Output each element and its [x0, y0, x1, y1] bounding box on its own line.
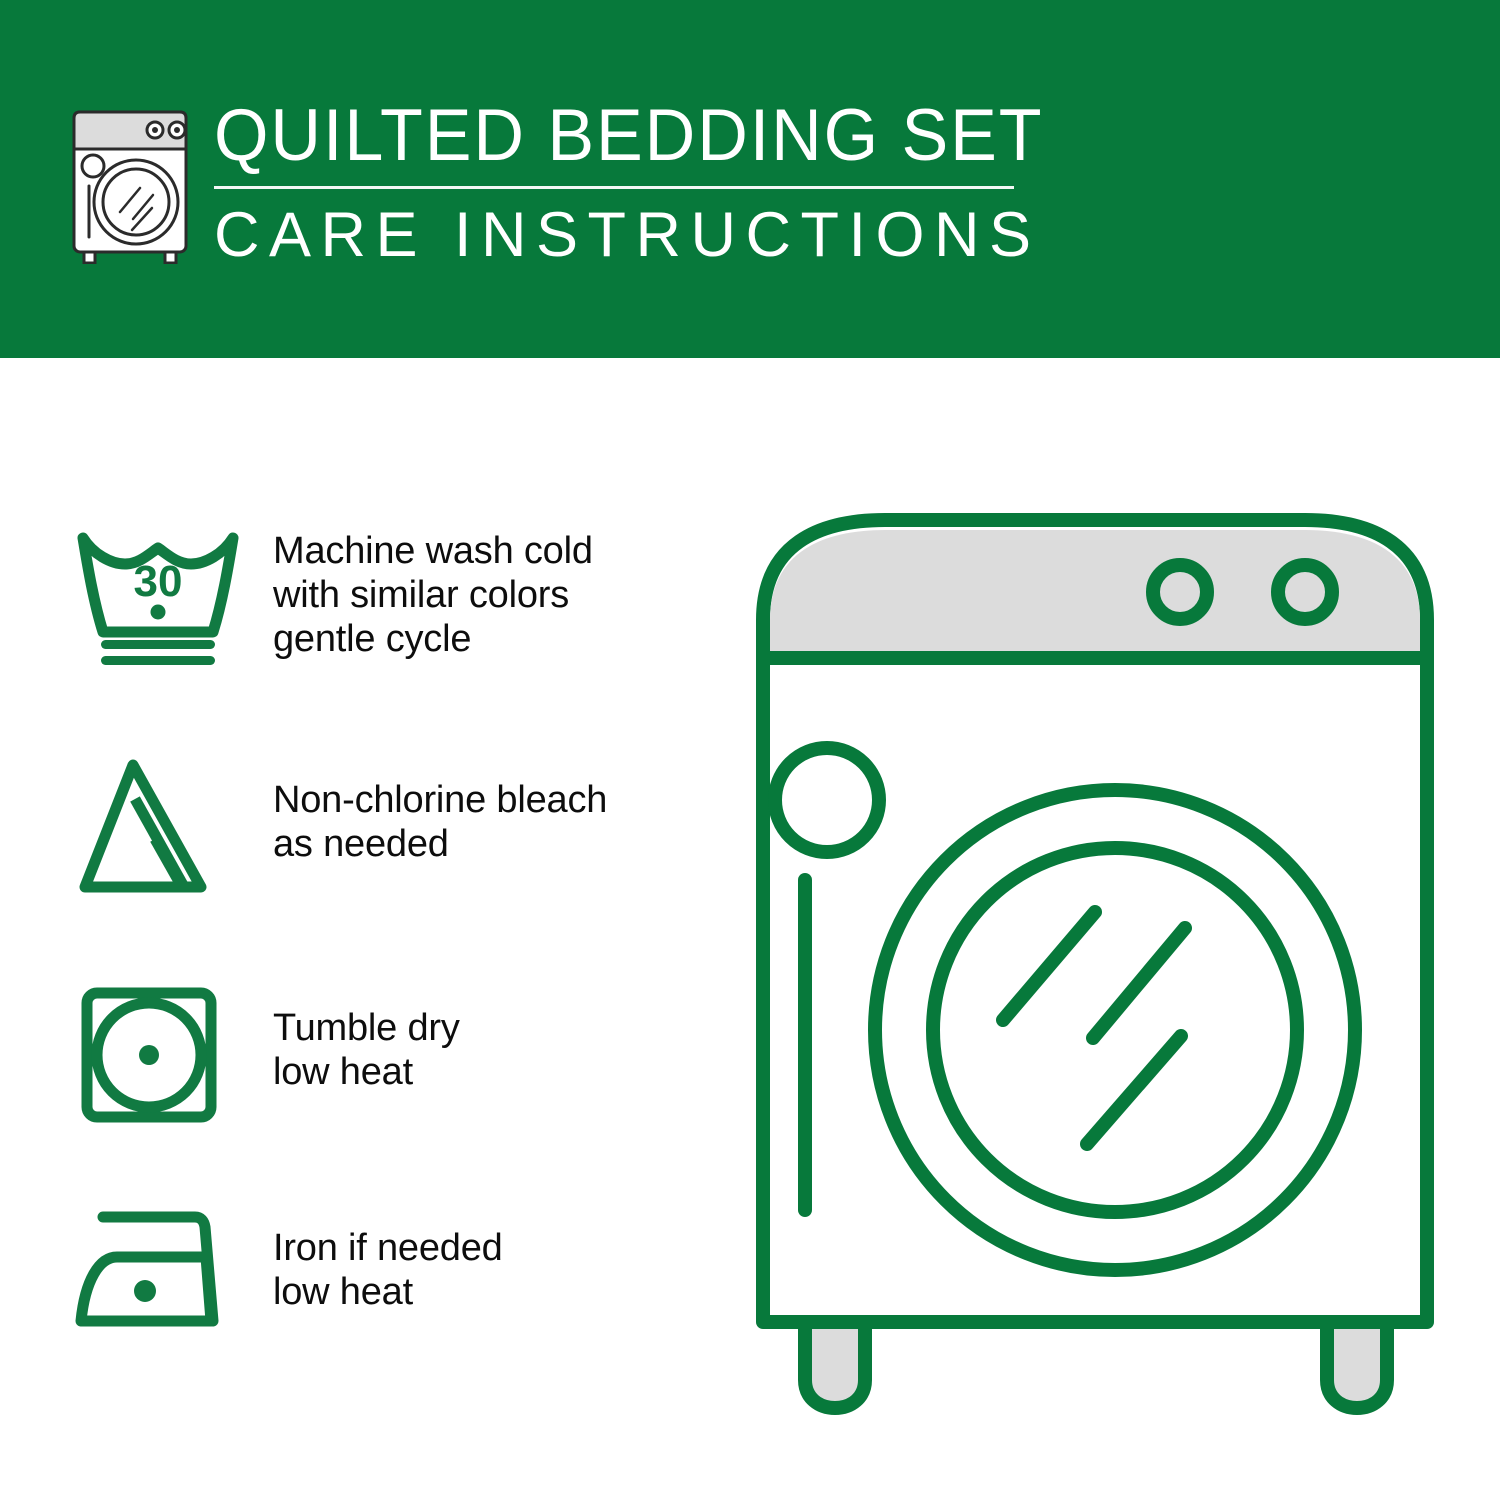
care-item-machine-wash: 30 Machine wash cold with similar colors… — [70, 505, 710, 685]
care-instruction-list: 30 Machine wash cold with similar colors… — [70, 505, 710, 1350]
header-banner: QUILTED BEDDING SET CARE INSTRUCTIONS — [0, 0, 1500, 358]
machine-leg-left — [805, 1322, 865, 1408]
care-item-tumble-dry-text: Tumble dry low heat — [273, 1006, 460, 1094]
header-text-block: QUILTED BEDDING SET CARE INSTRUCTIONS — [214, 96, 1078, 271]
care-item-bleach: Non-chlorine bleach as needed — [70, 737, 710, 907]
page-subtitle: CARE INSTRUCTIONS — [214, 199, 1078, 271]
wash-temperature-label: 30 — [133, 557, 182, 606]
care-line: with similar colors — [273, 573, 593, 617]
care-line: low heat — [273, 1270, 503, 1314]
machine-control-panel — [770, 530, 1420, 658]
care-item-machine-wash-text: Machine wash cold with similar colors ge… — [273, 529, 593, 661]
care-item-bleach-text: Non-chlorine bleach as needed — [273, 778, 607, 866]
machine-wash-30-gentle-icon: 30 — [70, 515, 245, 675]
washing-machine-icon — [60, 104, 200, 264]
page-title: QUILTED BEDDING SET — [214, 96, 1044, 176]
care-line: Non-chlorine bleach — [273, 778, 607, 822]
title-divider — [214, 186, 1014, 189]
washing-machine-illustration — [745, 500, 1445, 1420]
care-line: Machine wash cold — [273, 529, 593, 573]
care-line: gentle cycle — [273, 617, 593, 661]
tumble-dry-low-icon — [70, 970, 245, 1130]
care-line: low heat — [273, 1050, 460, 1094]
care-item-iron-text: Iron if needed low heat — [273, 1226, 503, 1314]
care-line: Tumble dry — [273, 1006, 460, 1050]
care-line: Iron if needed — [273, 1226, 503, 1270]
iron-low-heat-icon — [70, 1190, 245, 1350]
header-content: QUILTED BEDDING SET CARE INSTRUCTIONS — [60, 96, 1078, 271]
care-item-iron: Iron if needed low heat — [70, 1190, 710, 1350]
care-item-tumble-dry: Tumble dry low heat — [70, 967, 710, 1132]
care-line: as needed — [273, 822, 607, 866]
machine-leg-right — [1327, 1322, 1387, 1408]
non-chlorine-bleach-icon — [70, 742, 245, 902]
